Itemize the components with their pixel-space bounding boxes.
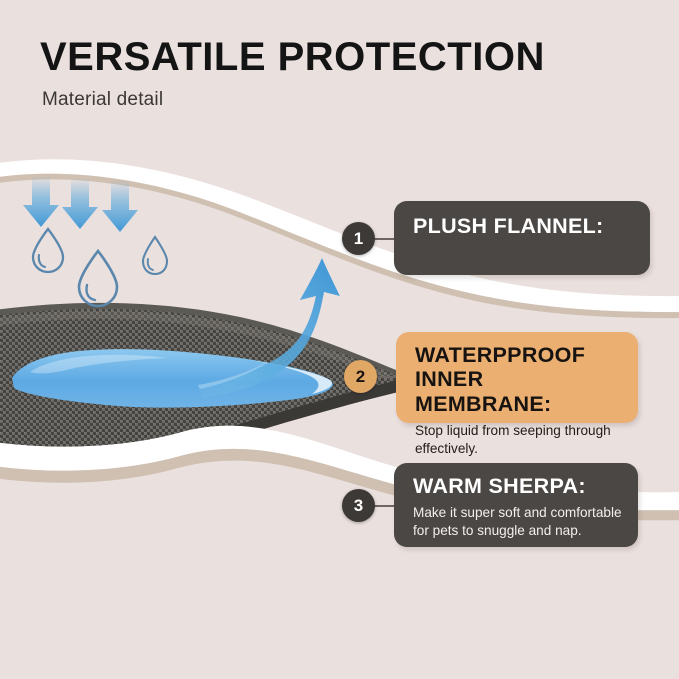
callout-2-heading-line1: WATERPPROOF bbox=[415, 343, 624, 367]
callout-box-waterproof-membrane[interactable]: WATERPPROOF INNER MEMBRANE: Stop liquid … bbox=[396, 332, 638, 423]
callout-3-heading: WARM SHERPA: bbox=[413, 474, 626, 498]
callout-badge-3-number: 3 bbox=[354, 496, 363, 516]
callout-badge-2[interactable]: 2 bbox=[344, 360, 377, 393]
callout-2-heading-line2: INNER MEMBRANE: bbox=[415, 367, 624, 416]
callout-badge-1-number: 1 bbox=[354, 229, 363, 249]
callout-box-plush-flannel[interactable]: PLUSH FLANNEL: bbox=[394, 201, 650, 275]
callout-1-heading: PLUSH FLANNEL: bbox=[413, 214, 650, 238]
infographic-canvas: VERSATILE PROTECTION Material detail bbox=[0, 0, 679, 679]
callout-badge-1[interactable]: 1 bbox=[342, 222, 375, 255]
callout-badge-2-number: 2 bbox=[356, 367, 365, 387]
callout-3-body: Make it super soft and comfortable for p… bbox=[413, 504, 626, 540]
callout-box-warm-sherpa[interactable]: WARM SHERPA: Make it super soft and comf… bbox=[394, 463, 638, 547]
callout-2-body: Stop liquid from seeping through effecti… bbox=[415, 422, 624, 458]
moisture-down-arrows bbox=[23, 176, 138, 232]
callout-badge-3[interactable]: 3 bbox=[342, 489, 375, 522]
